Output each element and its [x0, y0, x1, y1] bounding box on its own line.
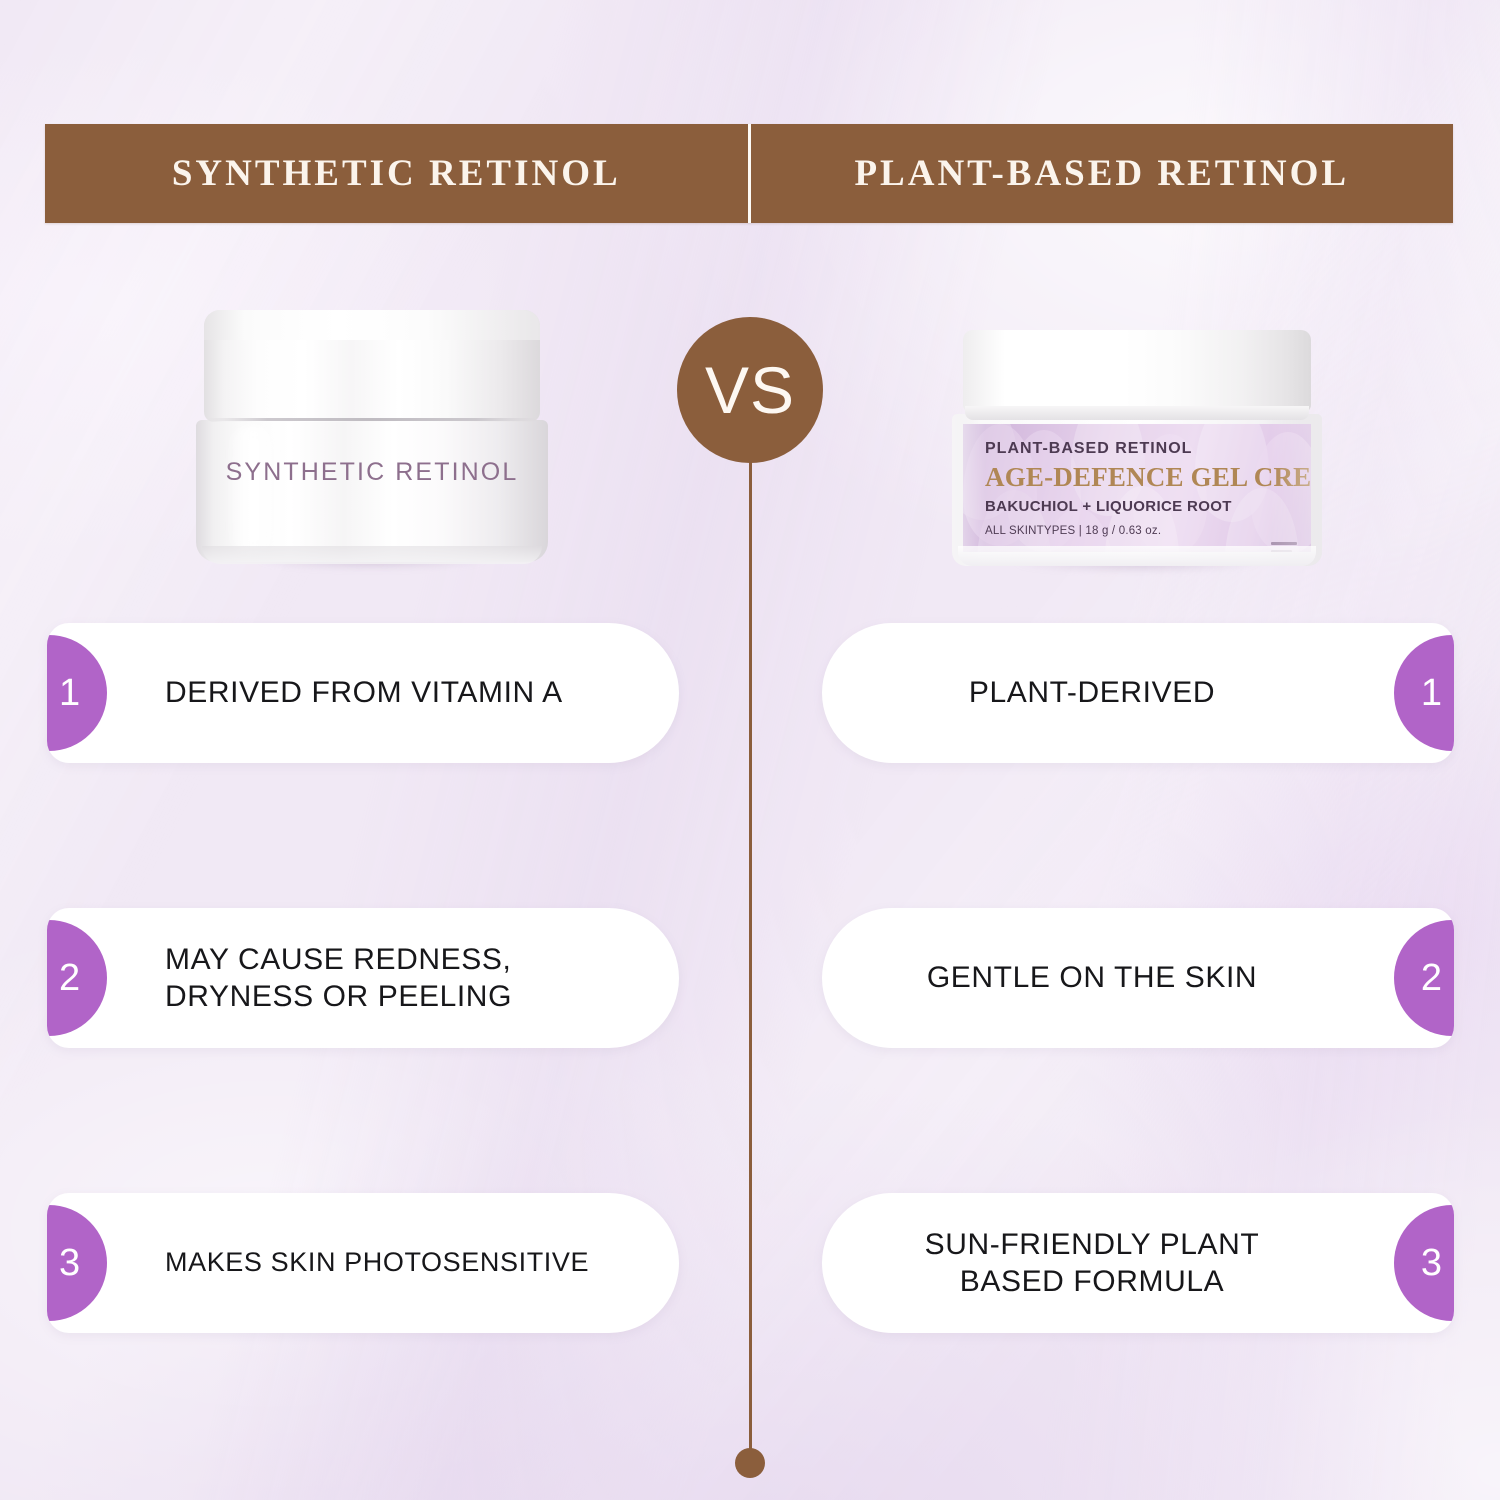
list-item-label: DERIVED FROM VITAMIN A	[165, 674, 563, 711]
status-badge: 1	[47, 635, 107, 751]
jar-label-actives: BAKUCHIOL + LIQUORICE ROOT	[985, 498, 1247, 515]
jar-lid-rim	[965, 406, 1309, 420]
status-badge: 3	[1394, 1205, 1454, 1321]
jar-base	[202, 546, 542, 564]
vs-badge: VS	[677, 317, 823, 463]
status-badge: 2	[47, 920, 107, 1036]
status-badge: 3	[47, 1205, 107, 1321]
jar-lid-top	[204, 310, 540, 340]
list-item[interactable]: GENTLE ON THE SKIN 2	[822, 908, 1454, 1048]
jar-lid	[963, 330, 1311, 412]
badge-number: 1	[1421, 674, 1442, 712]
jar-lid-seam	[208, 418, 536, 421]
list-item-label: MAKES SKIN PHOTOSENSITIVE	[165, 1246, 589, 1279]
vs-connector-line	[749, 440, 752, 1455]
list-item[interactable]: 3 MAKES SKIN PHOTOSENSITIVE	[47, 1193, 679, 1333]
header-right-half: PLANT-BASED RETINOL	[751, 124, 1454, 223]
list-item-label: SUN-FRIENDLY PLANTBASED FORMULA	[925, 1226, 1260, 1300]
badge-number: 3	[59, 1244, 80, 1282]
jar-product-label: PLANT-BASED RETINOL AGE-DEFENCE GEL CREM…	[963, 424, 1311, 552]
status-badge: 1	[1394, 635, 1454, 751]
list-item[interactable]: 1 DERIVED FROM VITAMIN A	[47, 623, 679, 763]
header-right-title: PLANT-BASED RETINOL	[854, 152, 1349, 195]
status-badge: 2	[1394, 920, 1454, 1036]
jar-label-text: SYNTHETIC RETINOL	[196, 458, 548, 487]
vs-connector-end-dot	[735, 1448, 765, 1478]
comparison-header-bar: SYNTHETIC RETINOL PLANT-BASED RETINOL	[45, 124, 1453, 223]
header-left-half: SYNTHETIC RETINOL	[45, 124, 748, 223]
list-item[interactable]: 2 MAY CAUSE REDNESS,DRYNESS OR PEELING	[47, 908, 679, 1048]
header-left-title: SYNTHETIC RETINOL	[172, 152, 621, 195]
badge-number: 2	[1421, 959, 1442, 997]
list-item-label: GENTLE ON THE SKIN	[927, 959, 1257, 996]
infographic-canvas: SYNTHETIC RETINOL PLANT-BASED RETINOL VS…	[0, 0, 1500, 1500]
vs-label: VS	[705, 357, 795, 423]
jar-label-text-block: PLANT-BASED RETINOL AGE-DEFENCE GEL CREM…	[985, 440, 1247, 537]
list-item[interactable]: PLANT-DERIVED 1	[822, 623, 1454, 763]
list-item-label: PLANT-DERIVED	[969, 674, 1215, 711]
list-item-label: MAY CAUSE REDNESS,DRYNESS OR PEELING	[165, 941, 512, 1015]
jar-label-eyebrow: PLANT-BASED RETINOL	[985, 440, 1247, 458]
badge-number: 3	[1421, 1244, 1442, 1282]
jar-body-highlight	[226, 426, 280, 554]
jar-base	[958, 546, 1316, 566]
jar-label-details: ALL SKINTYPES | 18 g / 0.63 oz.	[985, 525, 1247, 537]
list-item[interactable]: SUN-FRIENDLY PLANTBASED FORMULA 3	[822, 1193, 1454, 1333]
jar-label-product-name: AGE-DEFENCE GEL CREME	[985, 462, 1247, 493]
badge-number: 1	[59, 674, 80, 712]
badge-number: 2	[59, 959, 80, 997]
synthetic-retinol-jar: SYNTHETIC RETINOL	[196, 310, 548, 575]
plant-based-retinol-jar: PLANT-BASED RETINOL AGE-DEFENCE GEL CREM…	[952, 330, 1322, 576]
